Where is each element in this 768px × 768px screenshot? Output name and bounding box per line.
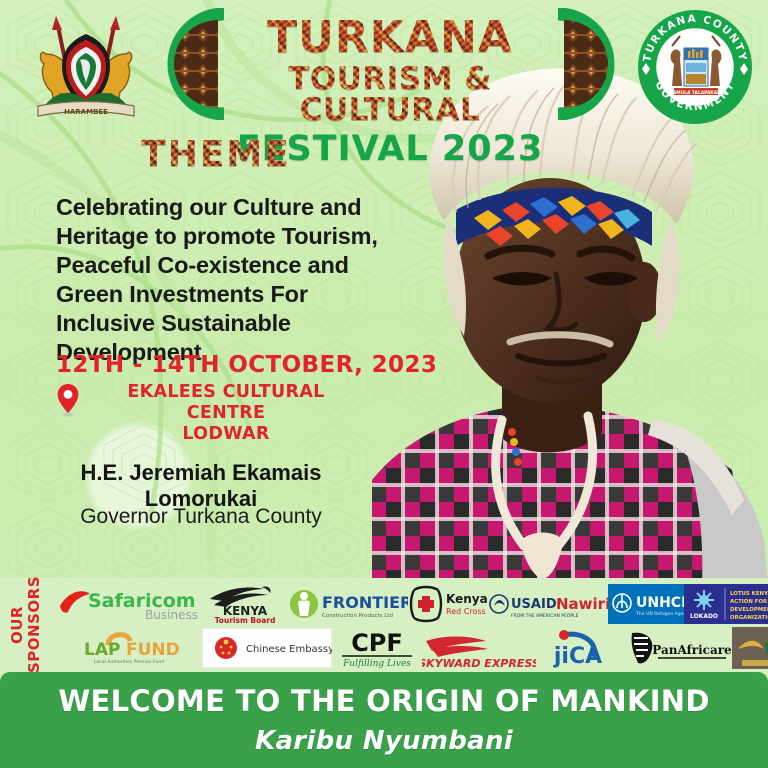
sponsor-logo-kenya-tourism-board[interactable]: KENYA Tourism Board [202,583,288,625]
sponsor-unhcr-tagline: The UN Refugee Agency [635,611,684,617]
sponsor-logo-lapfund[interactable]: LAP FUND Local Authorities Pension Fund [56,627,202,669]
sponsor-chinese-embassy-name: Chinese Embassy [246,644,332,655]
venue-line-2: LODWAR [86,424,366,445]
svg-text:ORGANIZATION: ORGANIZATION [730,615,768,621]
welcome-banner-line-1: WELCOME TO THE ORIGIN OF MANKIND [58,684,710,718]
sponsor-nawiri-name: Nawiri [556,595,608,613]
sponsor-redcross-name: Kenya [446,592,488,606]
sponsor-safaricom-tagline: Business [145,608,198,622]
poster-header: HARAMBEE TURKANA COUNTY GOVERNMENT [0,0,768,128]
sponsor-redcross-tagline: Red Cross [446,607,486,616]
theme-body-text: Celebrating our Culture and Heritage to … [56,193,386,367]
sponsors-logo-grid: Safaricom Business KENYA Tourism Board [56,580,762,672]
sponsors-label-line-2: SPONSORS [26,577,43,673]
sponsor-logo-lokado[interactable]: LOKADO LOTUS KENYA ACTION FOR DEVELOPMEN… [684,583,768,625]
sponsor-jica-name: jiCA [553,644,602,669]
venue-line-1: EKALEES CULTURAL CENTRE [86,382,366,424]
sponsors-row-1: Safaricom Business KENYA Tourism Board [56,582,762,626]
sponsor-cpf-tagline: Fulfilling Lives [342,659,411,669]
svg-text:LOTUS KENYA: LOTUS KENYA [730,591,768,597]
sponsors-band: OUR SPONSORS Safaricom Business [0,578,768,674]
governor-title: Governor Turkana County [36,505,366,529]
event-dates: 12TH - 14TH OCTOBER, 2023 [56,352,437,378]
sponsor-ktb-tagline: Tourism Board [215,616,276,625]
turkana-county-emblem-icon: TURKANA COUNTY GOVERNMENT [634,6,756,128]
welcome-banner: WELCOME TO THE ORIGIN OF MANKIND Karibu … [0,672,768,768]
sponsor-logo-cpf[interactable]: CPF Fulfilling Lives [332,627,422,669]
sponsor-logo-safaricom[interactable]: Safaricom Business [56,583,202,625]
svg-text:DEVELOPMENT: DEVELOPMENT [730,607,768,613]
sponsor-cpf-name: CPF [351,629,403,657]
svg-text:FUND: FUND [126,640,180,660]
sponsor-logo-unhcr[interactable]: UNHCR The UN Refugee Agency [608,583,684,625]
title-line-tourism: TOURISM & CULTURAL [230,64,550,126]
governor-name-line-1: H.E. Jeremiah Ekamais [36,460,366,486]
festival-poster: HARAMBEE TURKANA COUNTY GOVERNMENT [0,0,768,768]
sponsor-unhcr-name: UNHCR [636,595,684,611]
festival-title: TURKANA TOURISM & CULTURAL FESTIVAL 2023 [230,8,550,126]
sponsor-logo-panafricare[interactable]: PanAfricare [620,627,732,669]
sponsor-frontier-name: FRONTIER [322,593,408,612]
welcome-banner-line-2: Karibu Nyumbani [255,726,513,756]
sponsor-logo-skyward-express[interactable]: SKYWARD EXPRESS [422,627,536,669]
sponsor-logo-usaid-nawiri[interactable]: USAID FROM THE AMERICAN PEOPLE Nawiri [488,583,608,625]
kenya-coat-of-arms-icon: HARAMBEE [24,8,148,123]
event-venue: EKALEES CULTURAL CENTRE LODWAR [56,382,366,445]
sponsor-usaid-subtitle: FROM THE AMERICAN PEOPLE [511,613,579,619]
theme-heading: THEME [126,133,306,177]
location-pin-icon [56,383,80,417]
title-line-turkana: TURKANA [230,16,550,60]
kenya-emblem-motto: HARAMBEE [64,108,108,116]
county-emblem-motto: NAMULA TALAPAKAN [669,90,721,96]
sponsors-label-line-1: OUR [9,577,26,673]
svg-text:ACTION FOR: ACTION FOR [730,599,768,605]
sponsor-frontier-tagline: Construction Products Ltd [322,613,393,619]
sponsors-label: OUR SPONSORS [2,578,54,674]
sponsor-logo-turkana-emblem[interactable] [732,627,768,669]
sponsor-lokado-name: LOKADO [690,613,718,620]
sponsor-skyward-name: SKYWARD EXPRESS [422,657,536,669]
sponsor-logo-frontier[interactable]: FRONTIER Construction Products Ltd [288,583,408,625]
svg-text:LAP: LAP [84,640,120,660]
sponsors-row-2: LAP FUND Local Authorities Pension Fund [56,626,762,670]
sponsor-usaid-name: USAID [511,597,557,612]
sponsor-logo-jica[interactable]: jiCA [536,627,620,669]
sponsor-lapfund-tagline: Local Authorities Pension Fund [94,659,164,665]
sponsor-logo-kenya-red-cross[interactable]: Kenya Red Cross [408,583,488,625]
sponsor-logo-chinese-embassy[interactable]: Chinese Embassy [202,627,332,669]
sponsor-panafricare-name: PanAfricare [652,643,732,657]
